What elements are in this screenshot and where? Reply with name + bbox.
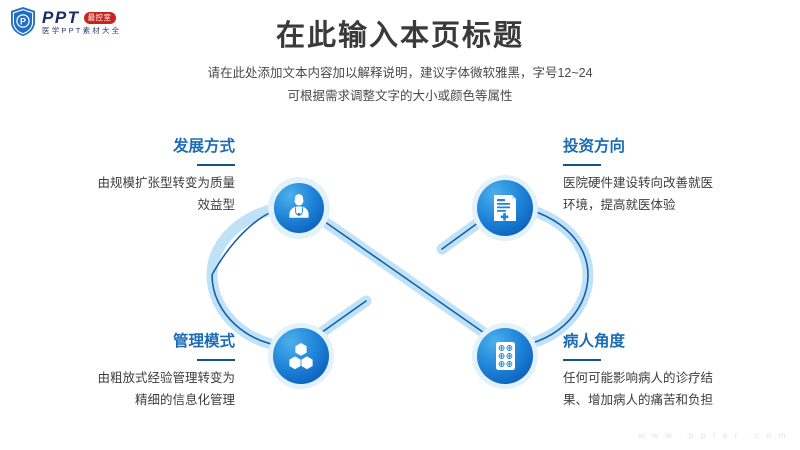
block-body: 任何可能影响病人的诊疗结 果、增加病人的痛苦和负担: [563, 368, 788, 412]
body-line-1: 任何可能影响病人的诊疗结: [563, 368, 788, 390]
site-watermark: w w w . p p t e r . c o m: [639, 430, 788, 440]
subtitle-line-1: 请在此处添加文本内容加以解释说明，建议字体微软雅黑，字号12~24: [0, 62, 800, 85]
heading-divider: [197, 359, 235, 362]
block-body: 由规模扩张型转变为质量 效益型: [20, 173, 235, 217]
block-body: 由粗放式经验管理转变为 精细的信息化管理: [20, 368, 235, 412]
page-subtitle: 请在此处添加文本内容加以解释说明，建议字体微软雅黑，字号12~24 可根据需求调…: [0, 62, 800, 108]
body-line-2: 果、增加病人的痛苦和负担: [563, 390, 788, 412]
block-patient: 病人角度 任何可能影响病人的诊疗结 果、增加病人的痛苦和负担: [563, 333, 788, 412]
body-line-1: 由规模扩张型转变为质量: [20, 173, 235, 195]
node-development[interactable]: [268, 177, 330, 239]
infinity-loop-path: [190, 155, 610, 395]
body-line-2: 效益型: [20, 195, 235, 217]
block-heading: 病人角度: [563, 333, 788, 352]
body-line-1: 医院硬件建设转向改善就医: [563, 173, 788, 195]
subtitle-line-2: 可根据需求调整文字的大小或颜色等属性: [0, 85, 800, 108]
page-title: 在此输入本页标题: [0, 12, 800, 54]
body-line-1: 由粗放式经验管理转变为: [20, 368, 235, 390]
block-heading: 投资方向: [563, 138, 788, 157]
heading-divider: [197, 164, 235, 167]
node-disc: [274, 183, 324, 233]
heading-divider: [563, 359, 601, 362]
body-line-2: 精细的信息化管理: [20, 390, 235, 412]
block-development: 发展方式 由规模扩张型转变为质量 效益型: [20, 138, 235, 217]
body-line-2: 环境，提高就医体验: [563, 195, 788, 217]
node-disc: [477, 328, 533, 384]
infinity-loop-diagram: [190, 155, 610, 395]
block-heading: 发展方式: [20, 138, 235, 157]
block-investment: 投资方向 医院硬件建设转向改善就医 环境，提高就医体验: [563, 138, 788, 217]
node-disc: [477, 180, 533, 236]
node-management[interactable]: [268, 323, 334, 389]
node-disc: [273, 328, 329, 384]
node-patient[interactable]: [472, 323, 538, 389]
block-heading: 管理模式: [20, 333, 235, 352]
block-body: 医院硬件建设转向改善就医 环境，提高就医体验: [563, 173, 788, 217]
node-investment[interactable]: [472, 175, 538, 241]
heading-divider: [563, 164, 601, 167]
block-management: 管理模式 由粗放式经验管理转变为 精细的信息化管理: [20, 333, 235, 412]
